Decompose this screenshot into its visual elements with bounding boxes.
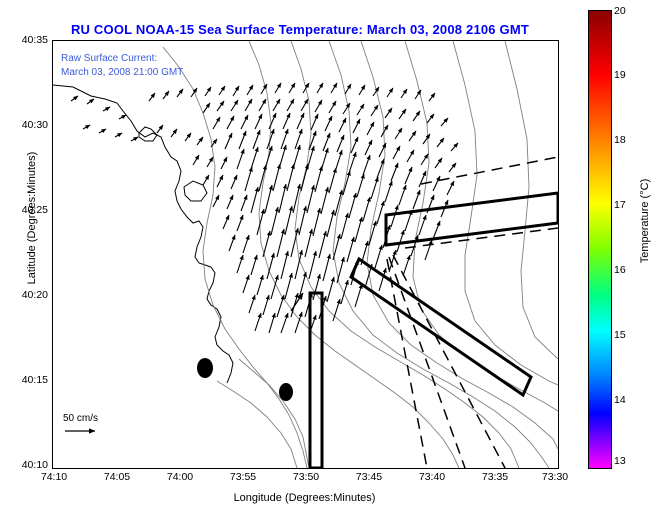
x-axis-ticks: 74:10 74:05 74:00 73:55 73:50 73:45 73:4… (52, 471, 557, 487)
x-tick-1: 74:05 (87, 471, 147, 483)
x-axis-label: Longitude (Degrees:Minutes) (52, 492, 557, 504)
x-tick-2: 74:00 (150, 471, 210, 483)
colorbar-tick-6: 14 (614, 394, 644, 406)
x-tick-6: 73:40 (402, 471, 462, 483)
x-tick-7: 73:35 (465, 471, 525, 483)
y-tick-0: 40:35 (2, 34, 48, 46)
y-axis-label: Latitude (Degrees:Minutes) (26, 98, 38, 338)
x-tick-0: 74:10 (24, 471, 84, 483)
scale-bar-label: 50 cm/s (63, 413, 98, 424)
x-tick-5: 73:45 (339, 471, 399, 483)
survey-boxes (310, 193, 558, 468)
colorbar-tick-5: 15 (614, 329, 644, 341)
x-tick-8: 73:30 (525, 471, 585, 483)
contour-lines (163, 41, 558, 468)
current-vectors (71, 83, 458, 335)
annotation-current-timestamp: March 03, 2008 21:00 GMT (61, 67, 183, 78)
x-tick-3: 73:55 (213, 471, 273, 483)
colorbar (588, 10, 612, 469)
chart-root: RU COOL NOAA-15 Sea Surface Temperature:… (0, 0, 651, 518)
colorbar-tick-1: 19 (614, 69, 644, 81)
map-graphic (53, 41, 558, 468)
y-tick-4: 40:15 (2, 374, 48, 386)
y-tick-2: 40:25 (2, 204, 48, 216)
x-tick-4: 73:50 (276, 471, 336, 483)
coastline (53, 85, 233, 383)
chart-title: RU COOL NOAA-15 Sea Surface Temperature:… (0, 22, 600, 37)
colorbar-tick-7: 13 (614, 455, 644, 467)
y-tick-3: 40:20 (2, 289, 48, 301)
colorbar-tick-0: 20 (614, 5, 644, 17)
y-axis-ticks: 40:35 40:30 40:25 40:20 40:15 40:10 (0, 40, 48, 467)
map-plot-area[interactable]: Raw Surface Current: March 03, 2008 21:0… (52, 40, 559, 469)
annotation-raw-surface-current: Raw Surface Current: (61, 53, 157, 64)
y-tick-5: 40:10 (2, 459, 48, 471)
y-tick-1: 40:30 (2, 119, 48, 131)
colorbar-label: Temperature (°C) (639, 121, 651, 321)
